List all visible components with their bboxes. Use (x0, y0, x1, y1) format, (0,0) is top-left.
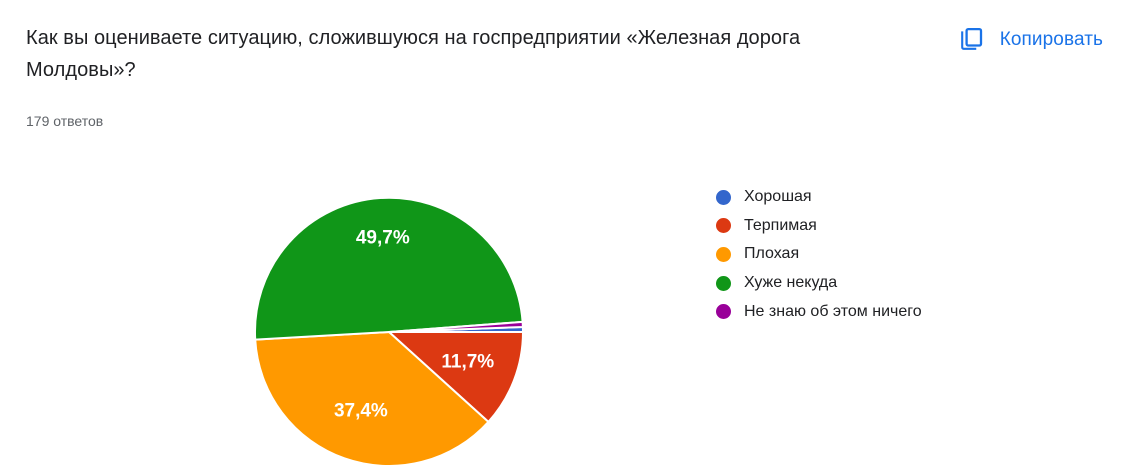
legend-item[interactable]: Терпимая (716, 212, 1096, 241)
question-header: Как вы оцениваете ситуацию, сложившуюся … (0, 0, 1129, 150)
legend-color-swatch (716, 247, 731, 262)
legend-color-swatch (716, 190, 731, 205)
legend-item-label: Не знаю об этом ничего (744, 302, 922, 322)
pie-chart[interactable]: 11,7%37,4%49,7% (235, 165, 545, 465)
legend-item[interactable]: Не знаю об этом ничего (716, 297, 1096, 326)
chart-result-card: Как вы оцениваете ситуацию, сложившуюся … (0, 0, 1129, 465)
pie-chart-svg[interactable]: 11,7%37,4%49,7% (235, 165, 545, 465)
legend-item-label: Терпимая (744, 216, 817, 236)
legend-color-swatch (716, 304, 731, 319)
legend-color-swatch (716, 276, 731, 291)
chart-area: 11,7%37,4%49,7% ХорошаяТерпимаяПлохаяХуж… (0, 150, 1129, 465)
legend-color-swatch (716, 218, 731, 233)
copy-button-label: Копировать (1000, 29, 1103, 51)
chart-legend: ХорошаяТерпимаяПлохаяХуже некудаНе знаю … (716, 183, 1096, 326)
legend-item-label: Хуже некуда (744, 273, 837, 293)
response-count: 179 ответов (26, 111, 103, 131)
page-title: Как вы оцениваете ситуацию, сложившуюся … (26, 22, 806, 86)
legend-item-label: Плохая (744, 244, 799, 264)
pie-slice[interactable] (255, 198, 523, 340)
legend-item[interactable]: Хуже некуда (716, 269, 1096, 298)
copy-icon (958, 26, 986, 54)
copy-button[interactable]: Копировать (954, 22, 1107, 58)
legend-item[interactable]: Хорошая (716, 183, 1096, 212)
legend-item[interactable]: Плохая (716, 240, 1096, 269)
pie-slices[interactable] (255, 198, 523, 465)
legend-item-label: Хорошая (744, 187, 812, 207)
